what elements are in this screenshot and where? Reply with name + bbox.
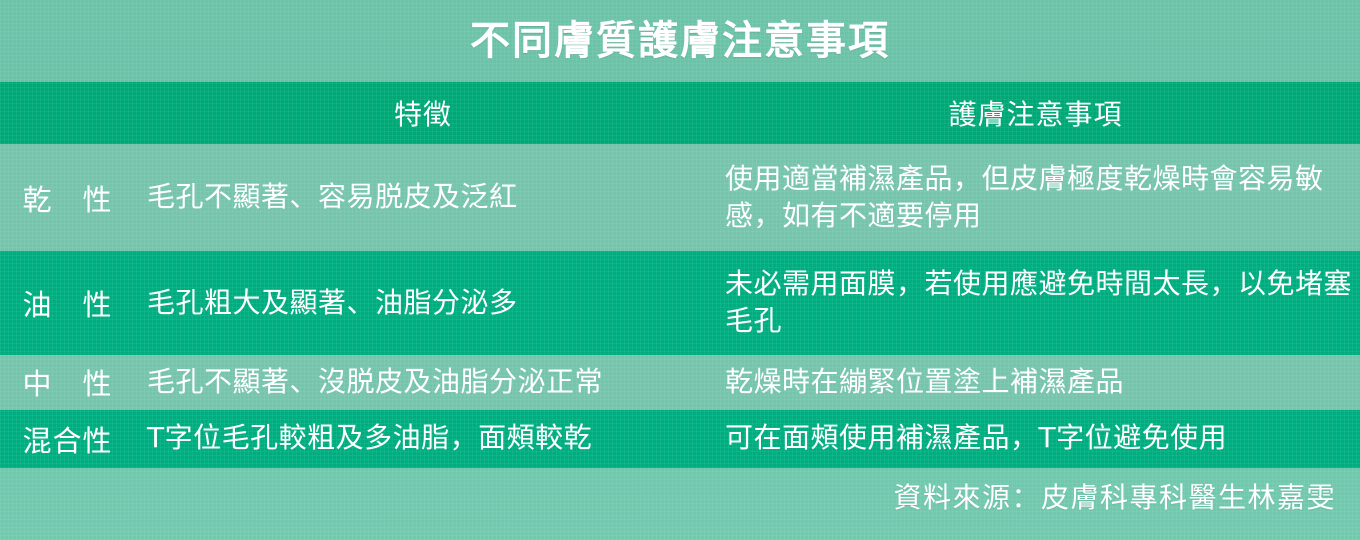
title-bar: 不同膚質護膚注意事項 xyxy=(0,0,1360,82)
cell-feature-normal: 毛孔不顯著、沒脱皮及油脂分泌正常 xyxy=(135,355,711,410)
column-header-skin-type xyxy=(0,82,135,144)
cell-feature-dry: 毛孔不顯著、容易脱皮及泛紅 xyxy=(135,144,711,251)
column-header-feature: 特徵 xyxy=(135,82,711,144)
cell-skin-type-combination: 混合性 xyxy=(0,410,135,468)
cell-skin-type-normal: 中 性 xyxy=(0,355,135,410)
skin-type-table: 特徵 護膚注意事項 乾 性 毛孔不顯著、容易脱皮及泛紅 使用適當補濕產品，但皮膚… xyxy=(0,82,1360,468)
cell-care-dry: 使用適當補濕產品，但皮膚極度乾燥時會容易敏感，如有不適要停用 xyxy=(711,144,1360,251)
cell-skin-type-dry: 乾 性 xyxy=(0,144,135,251)
cell-care-oily: 未必需用面膜，若使用應避免時間太長，以免堵塞毛孔 xyxy=(711,251,1360,354)
skin-type-table-container: 特徵 護膚注意事項 乾 性 毛孔不顯著、容易脱皮及泛紅 使用適當補濕產品，但皮膚… xyxy=(0,82,1360,468)
table-row: 中 性 毛孔不顯著、沒脱皮及油脂分泌正常 乾燥時在繃緊位置塗上補濕產品 xyxy=(0,355,1360,410)
table-row: 油 性 毛孔粗大及顯著、油脂分泌多 未必需用面膜，若使用應避免時間太長，以免堵塞… xyxy=(0,251,1360,354)
table-row: 混合性 T字位毛孔較粗及多油脂，面頰較乾 可在面頰使用補濕產品，T字位避免使用 xyxy=(0,410,1360,468)
column-header-care: 護膚注意事項 xyxy=(711,82,1360,144)
cell-feature-combination: T字位毛孔較粗及多油脂，面頰較乾 xyxy=(135,410,711,468)
table-header-row: 特徵 護膚注意事項 xyxy=(0,82,1360,144)
table-body: 乾 性 毛孔不顯著、容易脱皮及泛紅 使用適當補濕產品，但皮膚極度乾燥時會容易敏感… xyxy=(0,144,1360,468)
cell-feature-oily: 毛孔粗大及顯著、油脂分泌多 xyxy=(135,251,711,354)
source-credit: 資料來源：皮膚科專科醫生林嘉雯 xyxy=(893,476,1336,516)
cell-skin-type-oily: 油 性 xyxy=(0,251,135,354)
page-title: 不同膚質護膚注意事項 xyxy=(470,21,890,61)
table-row: 乾 性 毛孔不顯著、容易脱皮及泛紅 使用適當補濕產品，但皮膚極度乾燥時會容易敏感… xyxy=(0,144,1360,251)
cell-care-normal: 乾燥時在繃緊位置塗上補濕產品 xyxy=(711,355,1360,410)
table-header: 特徵 護膚注意事項 xyxy=(0,82,1360,144)
cell-care-combination: 可在面頰使用補濕產品，T字位避免使用 xyxy=(711,410,1360,468)
infographic-root: 不同膚質護膚注意事項 特徵 護膚注意事項 乾 性 毛孔不顯著、容易脱皮及泛紅 xyxy=(0,0,1360,540)
